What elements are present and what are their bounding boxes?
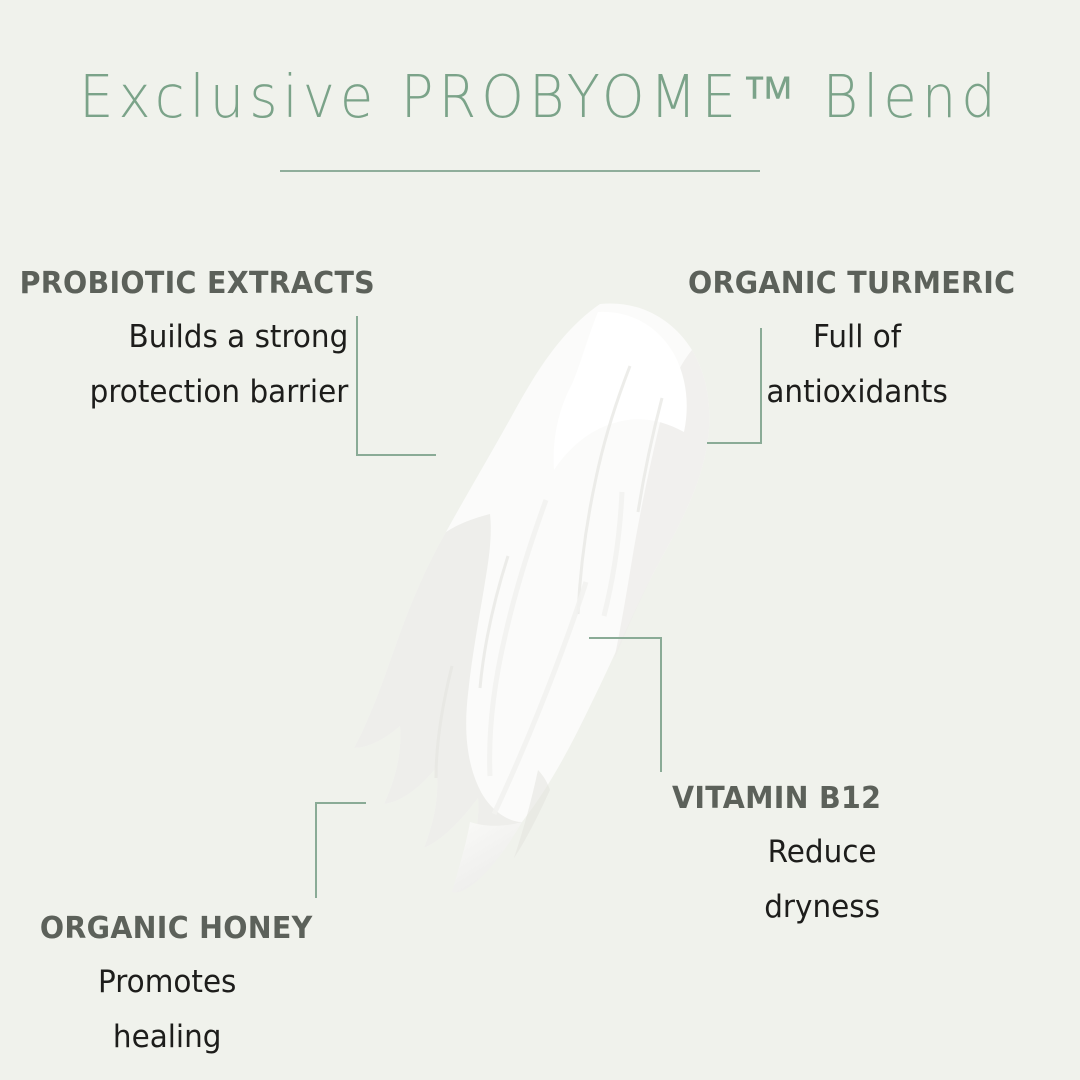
title-divider xyxy=(280,170,760,172)
callout-vitamin-b12: VITAMIN B12 Reduce dryness xyxy=(672,783,1064,935)
callout-description: Builds a strong protection barrier xyxy=(20,310,392,420)
page-title: Exclusive PROBYOME™ Blend xyxy=(43,62,1037,131)
infographic-canvas: Exclusive PROBYOME™ Blend xyxy=(0,0,1080,1080)
callout-organic-honey: ORGANIC HONEY Promotes healing xyxy=(0,913,352,1065)
callout-line: protection barrier xyxy=(20,365,349,420)
callout-heading: PROBIOTIC EXTRACTS xyxy=(20,268,392,300)
callout-description: Full of antioxidants xyxy=(688,310,1060,420)
callout-heading: VITAMIN B12 xyxy=(672,783,1044,815)
connector-vitamin-b12 xyxy=(586,632,672,778)
callout-description: Promotes healing xyxy=(0,955,334,1065)
callout-line: antioxidants xyxy=(688,365,1026,420)
callout-line: Builds a strong xyxy=(20,310,349,365)
callout-line: Promotes xyxy=(0,955,334,1010)
callout-line: dryness xyxy=(672,880,972,935)
callout-heading: ORGANIC TURMERIC xyxy=(688,268,1060,300)
callout-organic-turmeric: ORGANIC TURMERIC Full of antioxidants xyxy=(688,268,1080,420)
callout-heading: ORGANIC HONEY xyxy=(0,913,334,945)
callout-line: Full of xyxy=(688,310,1026,365)
callout-probiotic-extracts: PROBIOTIC EXTRACTS Builds a strong prote… xyxy=(0,268,392,420)
callout-description: Reduce dryness xyxy=(672,825,1044,935)
callout-line: Reduce xyxy=(672,825,972,880)
connector-organic-honey xyxy=(308,798,372,904)
callout-line: healing xyxy=(0,1010,334,1065)
